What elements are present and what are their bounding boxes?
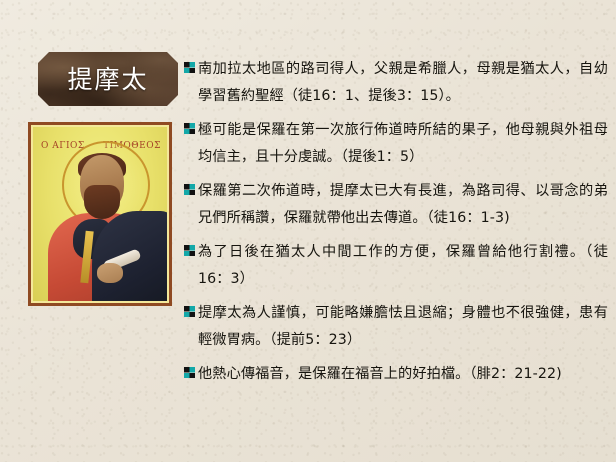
list-item: 保羅第二次佈道時，提摩太已大有長進，為路司得、以哥念的弟兄們所稱讚，保羅就帶他出…: [184, 178, 608, 232]
checker-bullet-icon: [184, 367, 195, 378]
list-item-text: 極可能是保羅在第一次旅行佈道時所結的果子，他母親與外祖母均信主，且十分虔誠。（提…: [198, 117, 608, 171]
slide-canvas: 提摩太 Ο ΑΓΙΟΣ ΤΙΜΟΘΕΟΣ 南加拉太地區的路司得人，父親是希臘人，…: [0, 0, 616, 462]
list-item-text: 提摩太為人謹慎，可能略嫌膽怯且退縮；身體也不很強健，患有輕微胃病。（提前5：23…: [198, 300, 608, 354]
list-item: 提摩太為人謹慎，可能略嫌膽怯且退縮；身體也不很強健，患有輕微胃病。（提前5：23…: [184, 300, 608, 354]
list-item: 極可能是保羅在第一次旅行佈道時所結的果子，他母親與外祖母均信主，且十分虔誠。（提…: [184, 117, 608, 171]
saint-timothy-icon-frame: Ο ΑΓΙΟΣ ΤΙΜΟΘΕΟΣ: [28, 122, 172, 306]
beard-shape: [84, 185, 120, 219]
checker-bullet-icon: [184, 184, 195, 195]
checker-bullet-icon: [184, 245, 195, 256]
checker-bullet-icon: [184, 306, 195, 317]
list-item: 他熱心傳福音，是保羅在福音上的好拍檔。（腓2：21-22): [184, 361, 608, 388]
hand-shape: [97, 263, 123, 283]
saint-timothy-icon-image: Ο ΑΓΙΟΣ ΤΙΜΟΘΕΟΣ: [33, 127, 167, 301]
list-item: 南加拉太地區的路司得人，父親是希臘人，母親是猶太人，自幼學習舊約聖經（徒16：1…: [184, 56, 608, 110]
list-item: 為了日後在猶太人中間工作的方便，保羅曾給他行割禮。（徒16：3）: [184, 239, 608, 293]
list-item-text: 保羅第二次佈道時，提摩太已大有長進，為路司得、以哥念的弟兄們所稱讚，保羅就帶他出…: [198, 178, 608, 232]
bullet-list: 南加拉太地區的路司得人，父親是希臘人，母親是猶太人，自幼學習舊約聖經（徒16：1…: [184, 56, 608, 395]
list-item-text: 南加拉太地區的路司得人，父親是希臘人，母親是猶太人，自幼學習舊約聖經（徒16：1…: [198, 56, 608, 110]
list-item-text: 他熱心傳福音，是保羅在福音上的好拍檔。（腓2：21-22): [198, 361, 608, 388]
title-plaque: 提摩太: [38, 52, 178, 106]
list-item-text: 為了日後在猶太人中間工作的方便，保羅曾給他行割禮。（徒16：3）: [198, 239, 608, 293]
page-title: 提摩太: [67, 67, 148, 92]
checker-bullet-icon: [184, 123, 195, 134]
checker-bullet-icon: [184, 62, 195, 73]
